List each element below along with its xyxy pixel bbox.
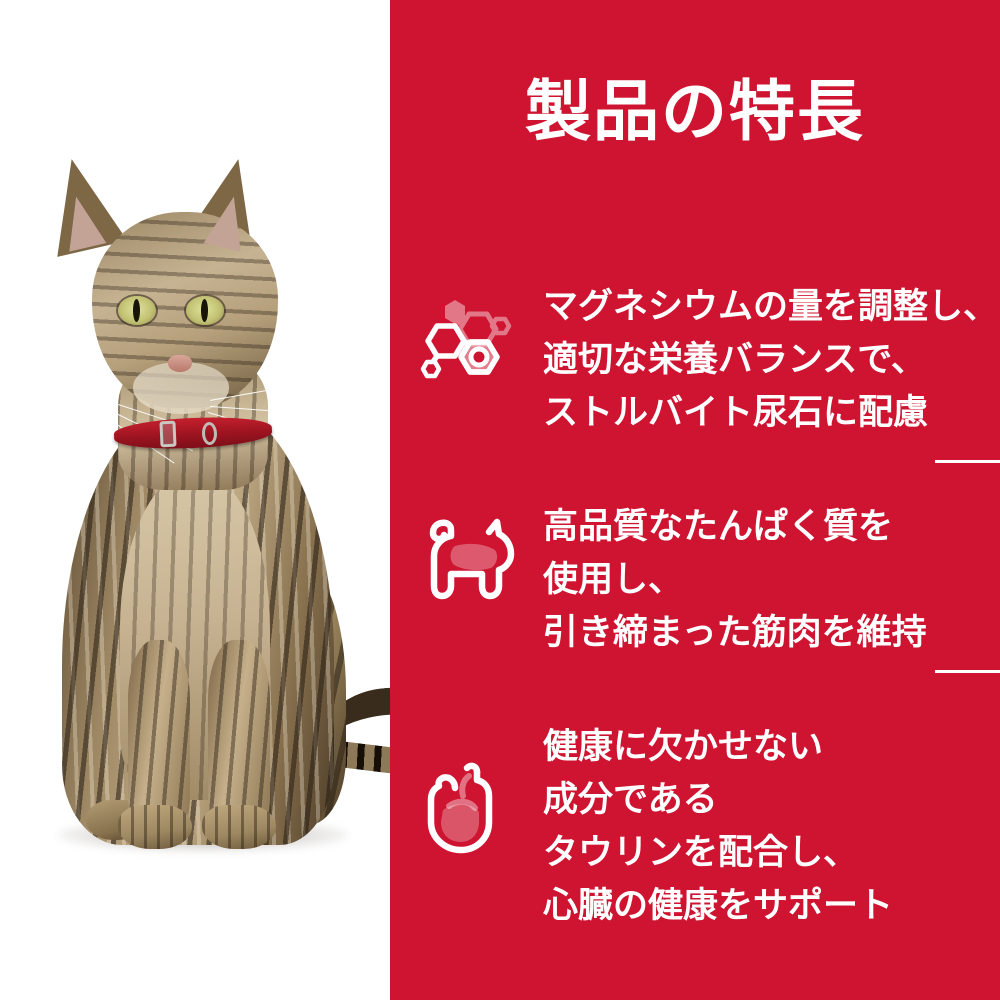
cat-pupil-left: [133, 299, 140, 322]
feature-item: 健康に欠かせない 成分である タウリンを配合し、 心臓の健康をサポート: [390, 718, 1000, 932]
molecule-icon: [417, 294, 517, 394]
feature-divider: [935, 670, 1000, 673]
product-feature-banner: 製品の特長: [0, 0, 1000, 1000]
feature-divider: [935, 460, 1000, 463]
feature-item: 高品質なたんぱく質を 使用し、 引き締まった筋肉を維持: [390, 498, 1000, 659]
feature-item: マグネシウムの量を調整し、 適切な栄養バランスで、 ストルバイト尿石に配慮: [390, 278, 1000, 439]
heart-icon: [419, 756, 515, 860]
cat-pupil-right: [201, 299, 208, 322]
cat-photo-panel: [0, 0, 390, 1000]
feature-text: 健康に欠かせない 成分である タウリンを配合し、 心臓の健康をサポート: [543, 718, 893, 932]
feature-icon-slot: [390, 278, 543, 394]
feature-icon-slot: [390, 498, 543, 608]
feature-panel: 製品の特長: [390, 0, 1000, 1000]
collar-buckle-icon: [159, 421, 176, 448]
cat-paw-left: [118, 805, 192, 849]
feature-text: 高品質なたんぱく質を 使用し、 引き締まった筋肉を維持: [543, 498, 927, 659]
feature-text: マグネシウムの量を調整し、 適切な栄養バランスで、 ストルバイト尿石に配慮: [543, 278, 998, 439]
cat-photo: [0, 0, 390, 1000]
page-title: 製品の特長: [390, 78, 1000, 144]
feature-icon-slot: [390, 718, 543, 860]
cat-nose: [168, 355, 192, 372]
cat-paw-right: [202, 805, 276, 849]
cat-outline-icon: [415, 512, 519, 608]
